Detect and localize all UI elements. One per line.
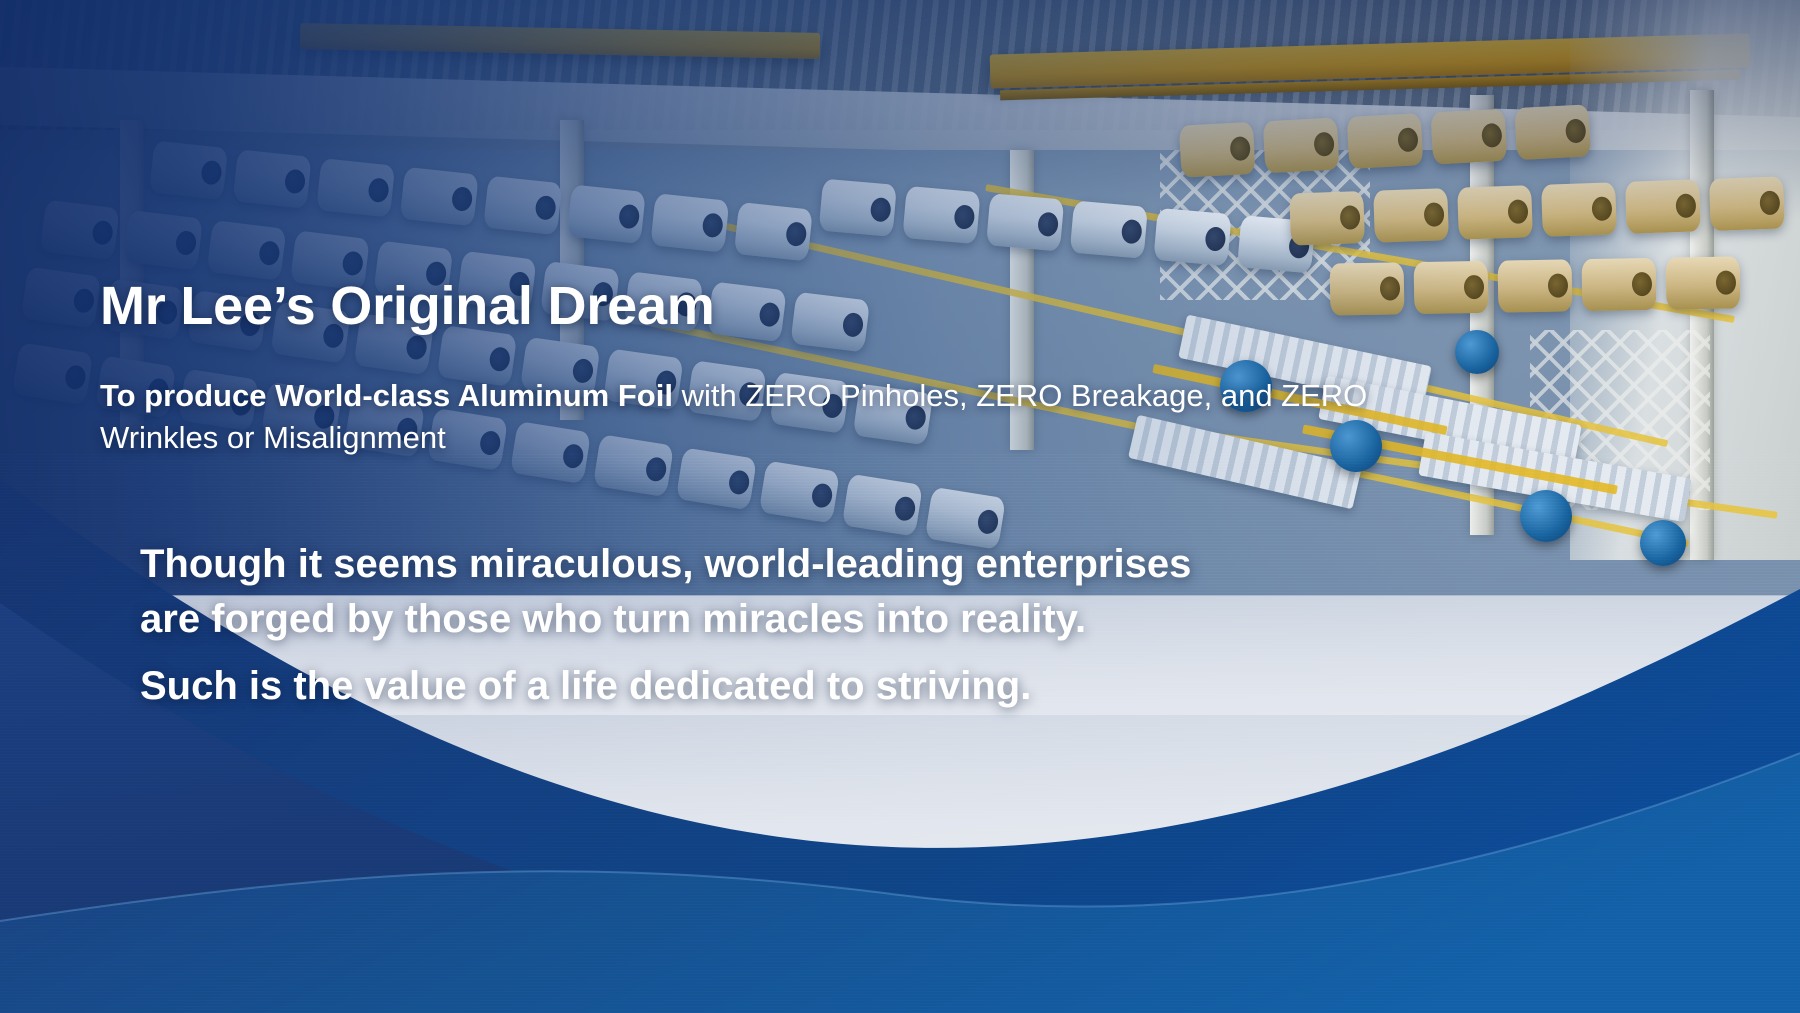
quote-line-3: Such is the value of a life dedicated to… [140,659,1490,714]
quote-line-1: Though it seems miraculous, world-leadin… [140,537,1490,592]
slide-text-content: Mr Lee’s Original Dream To produce World… [0,0,1800,1013]
subtitle-statement: To produce World-class Aluminum Foil wit… [100,375,1430,459]
subtitle-bold-lead: To produce World-class Aluminum Foil [100,378,673,413]
presentation-slide: Mr Lee’s Original Dream To produce World… [0,0,1800,1013]
quote-line-2: are forged by those who turn miracles in… [140,592,1490,647]
page-title: Mr Lee’s Original Dream [100,275,715,337]
quote-block: Though it seems miraculous, world-leadin… [140,537,1490,715]
